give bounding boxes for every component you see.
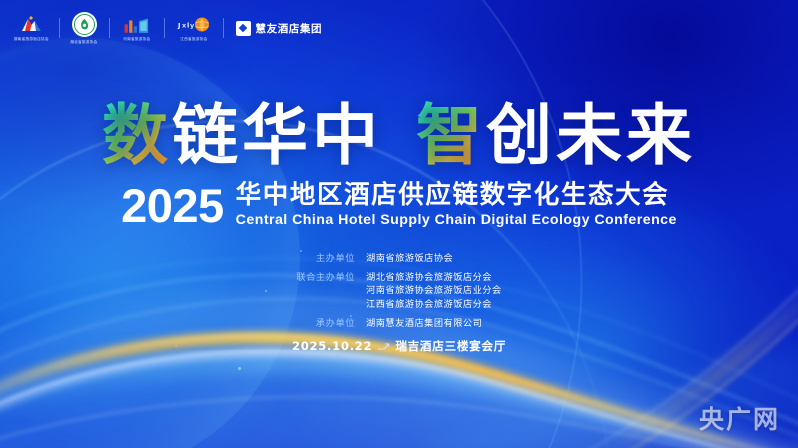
logo-caption: 湖北省旅游协会 [70, 38, 97, 44]
logo-caption: 河南省旅游协会 [123, 36, 150, 42]
subtitle-block: 2025 华中地区酒店供应链数字化生态大会 Central China Hote… [0, 182, 798, 229]
conference-poster: 湖南省旅游饭店协会 湖北省旅游协会 [0, 0, 798, 448]
organizer-value: 湖南省旅游饭店协会 [366, 252, 502, 265]
globe-wordmark-icon: J x l y [177, 15, 211, 35]
organizer-label: 承办单位 [296, 317, 366, 330]
mountain-torch-icon [18, 15, 44, 35]
landmark-icon [122, 15, 152, 35]
svg-text:l: l [187, 21, 189, 29]
logo-divider [164, 18, 165, 38]
logo-divider [109, 18, 110, 38]
organizer-info: 主办单位 湖南省旅游饭店协会 联合主办单位 湖北省旅游协会旅游饭店分会 河南省旅… [0, 252, 798, 330]
organizer-value: 河南省旅游协会旅游饭店业分会 [366, 284, 502, 297]
subtitle-chinese: 华中地区酒店供应链数字化生态大会 [236, 182, 677, 210]
logo-hubei-tourism-association: 湖北省旅游协会 [72, 11, 97, 45]
title-char-zhi: 智 [416, 97, 486, 174]
main-title: 数链华中智创未来 [0, 103, 798, 169]
title-char-shu: 数 [102, 97, 172, 174]
organizer-label: 联合主办单位 [296, 271, 366, 284]
organizer-row: 主办单位 湖南省旅游饭店协会 [296, 252, 501, 265]
title-seg-chuangweilai: 创未来 [486, 97, 696, 174]
organizer-value: 湖南慧友酒店集团有限公司 [366, 317, 502, 330]
diamond-mark-icon [236, 21, 251, 36]
organizer-row: 江西省旅游协会旅游饭店分会 [296, 298, 501, 311]
organizer-label-empty [296, 284, 366, 297]
organizer-table: 主办单位 湖南省旅游饭店协会 联合主办单位 湖北省旅游协会旅游饭店分会 河南省旅… [296, 252, 501, 330]
logo-brand-text: 慧友酒店集团 [256, 21, 323, 36]
logo-hunan-tourism-hotel-association: 湖南省旅游饭店协会 [16, 11, 47, 45]
date-venue-line: 2025.10.22 瑞吉酒店三楼宴会厅 [0, 338, 798, 354]
title-seg-lianhuazhong: 链华中 [172, 97, 382, 174]
subtitle-english: Central China Hotel Supply Chain Digital… [236, 212, 677, 230]
organizer-row: 联合主办单位 湖北省旅游协会旅游饭店分会 [296, 271, 501, 284]
organizer-label-empty [296, 298, 366, 311]
organizer-row: 河南省旅游协会旅游饭店业分会 [296, 284, 501, 297]
svg-text:y: y [190, 21, 195, 29]
round-seal-icon [72, 12, 97, 37]
event-year: 2025 [121, 182, 224, 228]
logo-caption: 湖南省旅游饭店协会 [14, 36, 49, 42]
logo-henan-tourism-association: 河南省旅游协会 [122, 11, 152, 45]
logo-divider [223, 18, 224, 38]
organizer-value: 湖北省旅游协会旅游饭店分会 [366, 271, 502, 284]
watermark: 央广网 [699, 400, 780, 436]
svg-text:J: J [177, 21, 180, 29]
location-pin-icon [377, 340, 390, 349]
organizer-label: 主办单位 [296, 252, 366, 265]
organizer-row: 承办单位 湖南慧友酒店集团有限公司 [296, 317, 501, 330]
event-venue: 瑞吉酒店三楼宴会厅 [395, 339, 506, 353]
organizer-value: 江西省旅游协会旅游饭店分会 [366, 298, 502, 311]
sponsor-logo-bar: 湖南省旅游饭店协会 湖北省旅游协会 [0, 0, 798, 56]
event-date: 2025.10.22 [292, 339, 372, 353]
logo-divider [59, 18, 60, 38]
logo-jiangxi-tourism-association: J x l y 江西省旅游协会 [177, 11, 211, 45]
logo-huiyou-hotel-group: 慧友酒店集团 [236, 11, 323, 45]
logo-caption: 江西省旅游协会 [180, 36, 207, 42]
svg-text:x: x [182, 21, 187, 29]
